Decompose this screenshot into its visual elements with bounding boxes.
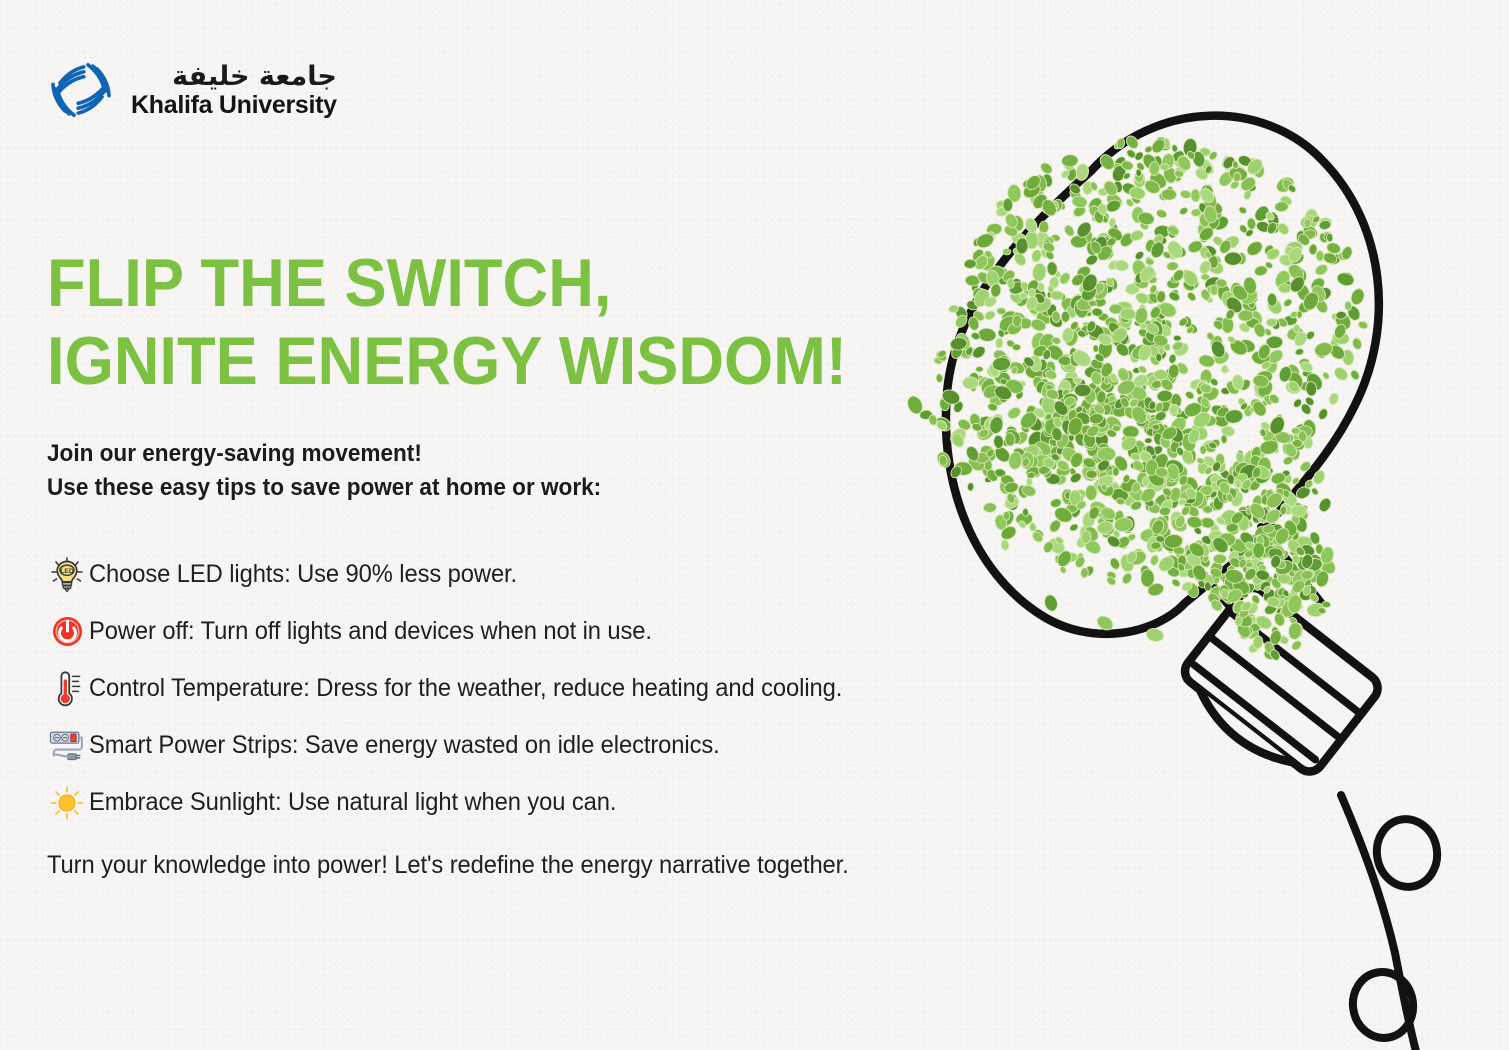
brand-logo: جامعة خليفة Khalifa University (45, 55, 337, 125)
headline-line-1: FLIP THE SWITCH, (47, 244, 847, 322)
leaf (1246, 217, 1256, 230)
leaf (1019, 292, 1028, 299)
leaf (1141, 569, 1155, 587)
leaf (1043, 593, 1060, 613)
leaf (1328, 392, 1340, 406)
leaf (1274, 201, 1288, 212)
list-item-label: Power off: Turn off lights and devices w… (89, 617, 652, 646)
leaf (1062, 223, 1076, 237)
leaf (1351, 337, 1363, 351)
leaf (1003, 198, 1013, 211)
leaf (1173, 335, 1181, 341)
leaf (1213, 554, 1226, 564)
leaf (1238, 206, 1248, 216)
bulb-foliage (905, 134, 1369, 662)
leaf (1073, 377, 1082, 384)
leaf (975, 366, 983, 372)
intro-line-2: Use these easy tips to save power at hom… (47, 471, 601, 505)
power-off-icon (45, 610, 89, 654)
leaf (1155, 353, 1162, 362)
leaf (1108, 556, 1121, 571)
leaf (1152, 424, 1161, 431)
leaf (935, 373, 943, 383)
leaf (964, 259, 977, 269)
leaf (1317, 496, 1334, 514)
leaf (1332, 365, 1350, 383)
lightbulb-outline (855, 75, 1509, 1050)
leaf (1086, 470, 1098, 479)
leaf (1186, 515, 1204, 530)
leaf (1031, 262, 1047, 282)
intro-paragraph: Join our energy-saving movement! Use the… (47, 437, 601, 505)
brand-name-arabic: جامعة خليفة (131, 63, 337, 90)
leaf (1022, 508, 1028, 516)
leaf (1161, 189, 1177, 201)
leaf (1112, 467, 1119, 476)
leaf (1321, 371, 1330, 381)
leaf (1144, 438, 1152, 444)
leaf (1149, 554, 1160, 566)
leaf (983, 502, 997, 512)
leaf (1344, 301, 1351, 311)
leaf (1002, 248, 1011, 255)
intro-line-1: Join our energy-saving movement! (47, 437, 601, 471)
khalifa-university-weave-mark (45, 55, 117, 125)
brand-wordmark: جامعة خليفة Khalifa University (131, 63, 337, 118)
leaf (1293, 324, 1299, 333)
led-bulb-icon: LED (45, 553, 89, 597)
list-item-label: Choose LED lights: Use 90% less power. (89, 560, 517, 589)
leaf (1046, 261, 1057, 276)
leaf (1304, 218, 1311, 228)
leaf (1003, 511, 1010, 520)
leaf (970, 344, 987, 361)
page-title: FLIP THE SWITCH, IGNITE ENERGY WISDOM! (47, 244, 847, 400)
sun-icon (45, 781, 89, 825)
leaf (963, 377, 979, 389)
leaf (1244, 239, 1265, 259)
leaf (1029, 522, 1037, 532)
leaf (1294, 348, 1304, 357)
leaf (1155, 208, 1168, 219)
power-strip-icon (45, 724, 89, 768)
leaf (977, 327, 996, 342)
leaf (1224, 252, 1242, 265)
leaf (1199, 445, 1206, 454)
leaf (1326, 233, 1333, 242)
leaf (1051, 291, 1063, 300)
leaf (1168, 364, 1180, 379)
leaf (1061, 154, 1078, 167)
leaf (1203, 506, 1213, 514)
leaf (1134, 250, 1146, 262)
cord-loop-upper (1372, 814, 1443, 891)
leaf (1112, 425, 1121, 432)
leaf (1170, 578, 1181, 589)
leaf (1097, 447, 1115, 461)
leaf (1291, 427, 1300, 434)
leaf (996, 307, 1006, 315)
leaf (1349, 369, 1361, 382)
leaf (1061, 311, 1069, 322)
brand-name-english: Khalifa University (131, 93, 337, 118)
leaf (1167, 290, 1181, 303)
leaf (993, 435, 1004, 449)
leaf (1000, 539, 1009, 550)
leaf (1313, 262, 1329, 277)
leaf (983, 309, 996, 321)
plant-lightbulb-illustration (855, 75, 1509, 1050)
leaf (1282, 297, 1293, 308)
leaf (1221, 435, 1228, 444)
headline-line-2: IGNITE ENERGY WISDOM! (47, 322, 847, 400)
leaf (928, 414, 937, 426)
leaf (1317, 407, 1330, 421)
leaf (1310, 487, 1320, 497)
leaf (1316, 250, 1325, 261)
leaf (1184, 390, 1195, 401)
leaf (1068, 522, 1079, 532)
poster-canvas: جامعة خليفة Khalifa University FLIP THE … (0, 0, 1509, 1050)
leaf (1178, 206, 1189, 216)
leaf (1012, 344, 1021, 351)
leaf (967, 482, 974, 491)
leaf (1278, 284, 1291, 294)
leaf (1006, 405, 1023, 421)
leaf (1221, 365, 1228, 374)
leaf (1266, 319, 1277, 327)
leaf (1120, 571, 1133, 585)
list-item-label: Control Temperature: Dress for the weath… (89, 674, 842, 703)
leaf (995, 338, 1003, 349)
led-icon-label: LED (60, 568, 73, 575)
leaf (1058, 356, 1072, 366)
leaf (1160, 163, 1170, 170)
leaf (1080, 568, 1088, 579)
leaf (1179, 189, 1192, 200)
closing-paragraph: Turn your knowledge into power! Let's re… (47, 851, 849, 880)
leaf (1357, 320, 1369, 331)
leaf (1154, 369, 1168, 379)
leaf (1088, 300, 1097, 307)
leaf (1291, 505, 1307, 517)
leaf (1166, 261, 1179, 271)
list-item-label: Smart Power Strips: Save energy wasted o… (89, 731, 720, 760)
leaf (1186, 291, 1198, 303)
leaf (1267, 293, 1277, 307)
leaf (1190, 189, 1200, 202)
leaf (1136, 169, 1142, 177)
leaf (1322, 601, 1331, 608)
leaf (1145, 258, 1155, 266)
leaf (1085, 485, 1097, 501)
leaf (1074, 384, 1091, 397)
thermometer-icon (45, 667, 89, 711)
list-item-label: Embrace Sunlight: Use natural light when… (89, 788, 616, 817)
leaf (1039, 161, 1055, 176)
leaf (1336, 271, 1356, 288)
